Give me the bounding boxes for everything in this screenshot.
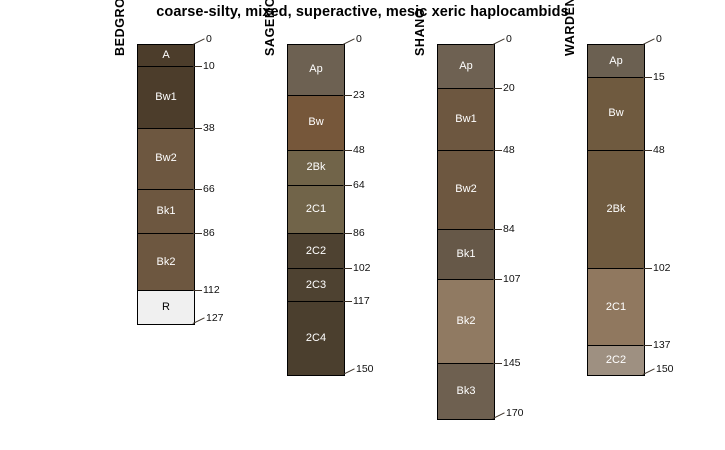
horizon-label: Ap xyxy=(438,60,494,72)
profile-box: ApBw2Bk2C12C2 xyxy=(587,44,645,376)
horizon-bw[interactable]: Bw xyxy=(588,78,644,151)
horizon-label: 2Bk xyxy=(588,203,644,215)
depth-tick xyxy=(343,150,352,151)
depth-tick xyxy=(643,345,652,346)
horizon-label: 2C1 xyxy=(288,203,344,215)
depth-tick xyxy=(193,290,202,291)
depth-tick-label: 84 xyxy=(503,223,515,235)
profile-box: ABw1Bw2Bk1Bk2R xyxy=(137,44,195,325)
depth-tick xyxy=(193,189,202,190)
depth-tick xyxy=(493,88,502,89)
depth-tick xyxy=(343,268,352,269)
horizon-2c2[interactable]: 2C2 xyxy=(288,234,344,269)
depth-tick xyxy=(493,363,502,364)
profile-box: ApBw2Bk2C12C22C32C4 xyxy=(287,44,345,376)
horizon-label: Bw xyxy=(588,107,644,119)
depth-tick-label: 66 xyxy=(203,183,215,195)
horizon-label: Bk1 xyxy=(138,205,194,217)
depth-tick-label: 86 xyxy=(353,227,365,239)
depth-tick-label: 0 xyxy=(206,33,212,45)
horizon-bk2[interactable]: Bk2 xyxy=(438,280,494,364)
depth-tick-label: 112 xyxy=(203,284,220,296)
depth-tick-label: 23 xyxy=(353,89,365,101)
horizon-label: R xyxy=(138,301,194,313)
profile-box: ApBw1Bw2Bk1Bk2Bk3 xyxy=(437,44,495,420)
horizon-label: Bw xyxy=(288,116,344,128)
horizon-label: 2Bk xyxy=(288,161,344,173)
horizon-label: A xyxy=(138,49,194,61)
horizon-2c2[interactable]: 2C2 xyxy=(588,346,644,375)
horizon-label: 2C1 xyxy=(588,301,644,313)
depth-tick-label: 127 xyxy=(206,312,224,324)
horizon-label: Ap xyxy=(588,55,644,67)
horizon-bk1[interactable]: Bk1 xyxy=(438,230,494,281)
horizon-ap[interactable]: Ap xyxy=(438,45,494,89)
horizon-label: Bk2 xyxy=(438,315,494,327)
depth-tick xyxy=(493,150,502,151)
horizon-label: Bw1 xyxy=(138,91,194,103)
horizon-ap[interactable]: Ap xyxy=(588,45,644,78)
horizon-label: Ap xyxy=(288,63,344,75)
horizon-a[interactable]: A xyxy=(138,45,194,67)
depth-tick-label: 86 xyxy=(203,227,215,239)
horizon-label: Bk3 xyxy=(438,385,494,397)
horizon-2bk[interactable]: 2Bk xyxy=(288,151,344,186)
depth-tick-label: 117 xyxy=(353,295,370,307)
depth-tick xyxy=(493,279,502,280)
horizon-bk3[interactable]: Bk3 xyxy=(438,364,494,419)
depth-tick-label: 0 xyxy=(356,33,362,45)
profile-name-label: WARDEN xyxy=(563,0,577,56)
depth-tick xyxy=(643,268,652,269)
horizon-2c1[interactable]: 2C1 xyxy=(588,269,644,346)
soil-profile-plot: coarse-silty, mixed, superactive, mesic … xyxy=(0,0,725,450)
profile-name-label: SHANO xyxy=(413,8,427,56)
horizon-2c3[interactable]: 2C3 xyxy=(288,269,344,302)
horizon-bk1[interactable]: Bk1 xyxy=(138,190,194,234)
depth-tick xyxy=(643,77,652,78)
depth-tick xyxy=(193,128,202,129)
horizon-bw1[interactable]: Bw1 xyxy=(438,89,494,151)
depth-tick-label: 0 xyxy=(656,33,662,45)
depth-tick xyxy=(643,150,652,151)
horizon-bw[interactable]: Bw xyxy=(288,96,344,151)
depth-tick-label: 150 xyxy=(656,363,674,375)
horizon-bw1[interactable]: Bw1 xyxy=(138,67,194,129)
horizon-bw2[interactable]: Bw2 xyxy=(138,129,194,191)
depth-tick-label: 150 xyxy=(356,363,374,375)
horizon-label: 2C3 xyxy=(288,279,344,291)
depth-tick xyxy=(493,38,506,45)
depth-tick xyxy=(193,66,202,67)
horizon-2c4[interactable]: 2C4 xyxy=(288,302,344,375)
page-title: coarse-silty, mixed, superactive, mesic … xyxy=(0,4,725,20)
depth-tick-label: 48 xyxy=(353,144,365,156)
horizon-label: Bw1 xyxy=(438,113,494,125)
horizon-label: 2C2 xyxy=(588,354,644,366)
horizon-label: Bk1 xyxy=(438,248,494,260)
profile-name-label: SAGEMOOR xyxy=(263,0,277,56)
depth-tick-label: 170 xyxy=(506,407,524,419)
depth-tick xyxy=(343,233,352,234)
depth-tick xyxy=(343,185,352,186)
horizon-label: Bw2 xyxy=(138,152,194,164)
depth-tick xyxy=(193,233,202,234)
depth-tick-label: 145 xyxy=(503,357,521,369)
depth-tick xyxy=(343,95,352,96)
depth-tick xyxy=(493,229,502,230)
horizon-bk2[interactable]: Bk2 xyxy=(138,234,194,291)
horizon-2bk[interactable]: 2Bk xyxy=(588,151,644,270)
horizon-2c1[interactable]: 2C1 xyxy=(288,186,344,234)
depth-tick-label: 102 xyxy=(653,262,671,274)
depth-tick-label: 64 xyxy=(353,179,365,191)
depth-tick-label: 15 xyxy=(653,71,665,83)
depth-tick-label: 107 xyxy=(503,273,521,285)
horizon-ap[interactable]: Ap xyxy=(288,45,344,96)
depth-tick-label: 0 xyxy=(506,33,512,45)
depth-tick xyxy=(193,38,206,45)
horizon-bw2[interactable]: Bw2 xyxy=(438,151,494,230)
depth-tick-label: 48 xyxy=(503,144,515,156)
horizon-label: Bk2 xyxy=(138,256,194,268)
depth-tick-label: 48 xyxy=(653,144,665,156)
depth-tick-label: 10 xyxy=(203,60,215,72)
depth-tick xyxy=(343,38,356,45)
depth-tick-label: 137 xyxy=(653,339,671,351)
depth-tick xyxy=(343,301,352,302)
horizon-r[interactable]: R xyxy=(138,291,194,324)
depth-tick-label: 102 xyxy=(353,262,371,274)
horizon-label: 2C4 xyxy=(288,332,344,344)
depth-tick-label: 20 xyxy=(503,82,515,94)
horizon-label: Bw2 xyxy=(438,183,494,195)
horizon-label: 2C2 xyxy=(288,245,344,257)
depth-tick xyxy=(643,38,656,45)
profile-name-label: BEDGROUND xyxy=(113,0,127,56)
depth-tick-label: 38 xyxy=(203,122,215,134)
